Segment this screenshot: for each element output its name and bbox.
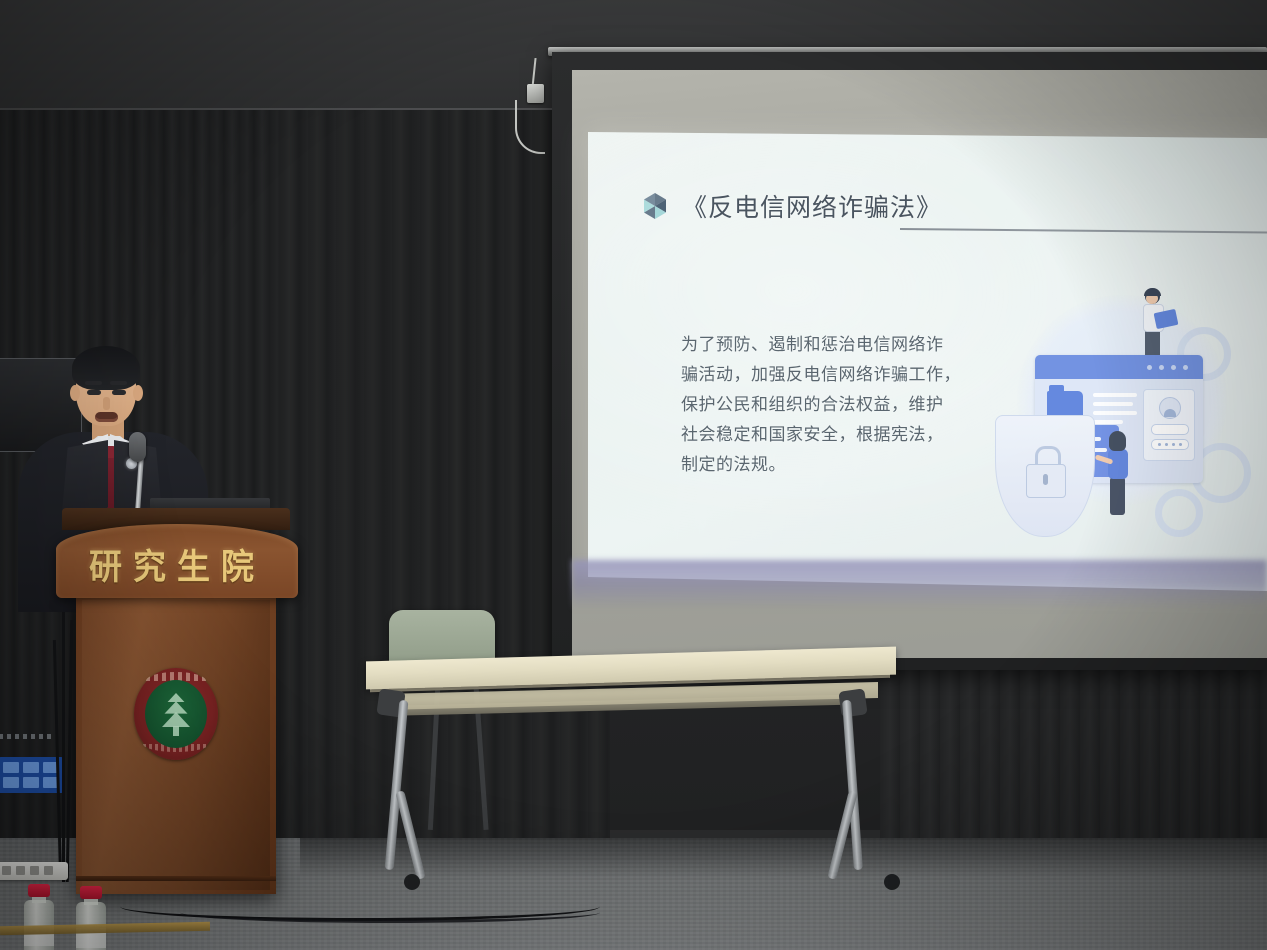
monitor-ui-cell: [23, 777, 39, 788]
browser-dot: [1147, 365, 1152, 370]
power-strip: [0, 862, 68, 880]
slide-body-line: 社会稳定和国家安全，根据宪法，: [681, 420, 963, 450]
tree-trunk: [173, 726, 179, 736]
password-dot: [1158, 443, 1161, 446]
slide-body-line: 骗活动，加强反电信网络诈骗工作，: [681, 360, 963, 390]
monitor-ui-panel: [0, 757, 63, 793]
slide-body-line: 保护公民和组织的合法权益，维护: [681, 390, 963, 420]
gear-icon: [1155, 489, 1203, 537]
cable: [62, 612, 65, 882]
speaker-nose: [103, 397, 110, 410]
monitor-ui-cell: [3, 762, 19, 773]
browser-dot: [1171, 365, 1176, 370]
text-line: [1093, 411, 1137, 415]
slide-body-text: 为了预防、遏制和惩治电信网络诈 骗活动，加强反电信网络诈骗工作， 保护公民和组织…: [681, 330, 963, 480]
monitor-text: [0, 734, 51, 739]
text-line: [1093, 420, 1123, 424]
slide-body-line: 制定的法规。: [681, 450, 963, 480]
power-socket: [16, 866, 25, 875]
browser-dot: [1183, 365, 1188, 370]
speaker-eye: [112, 390, 126, 395]
podium-nameplate-text: 研究生院: [56, 539, 298, 590]
password-field: [1151, 439, 1189, 450]
monitor-ui-cell: [3, 777, 19, 788]
floor-cable: [180, 902, 600, 923]
power-socket: [44, 866, 53, 875]
bottle-cap: [80, 886, 102, 899]
shield-icon: [995, 415, 1095, 537]
speaker-eyebrow: [85, 381, 102, 385]
password-dot: [1165, 443, 1168, 446]
university-emblem: [134, 668, 218, 760]
slide-title-row: 《反电信网络诈骗法》: [640, 188, 942, 224]
password-dot: [1172, 443, 1175, 446]
speaker-mouth: [95, 412, 118, 422]
table-caster: [404, 874, 420, 890]
lecture-hall-photo: 《反电信网络诈骗法》 为了预防、遏制和惩治电信网络诈 骗活动，加强反电信网络诈骗…: [0, 0, 1267, 950]
pine-tree-icon: [162, 690, 190, 736]
speaker-ear: [70, 385, 80, 401]
person-hair: [1144, 288, 1161, 296]
person-legs: [1110, 477, 1125, 515]
person-standing: [1103, 433, 1135, 521]
username-field: [1151, 424, 1189, 435]
bottle-cap: [28, 884, 50, 897]
gooseneck-microphone: [129, 432, 146, 462]
tree-tier: [162, 712, 190, 727]
slide-body-line: 为了预防、遏制和惩治电信网络诈: [681, 330, 963, 360]
text-line: [1093, 402, 1133, 406]
network-security-illustration: [995, 275, 1250, 565]
browser-dot: [1159, 365, 1164, 370]
person-with-laptop: [1137, 289, 1171, 363]
speaker-eye: [87, 390, 101, 395]
podium-base-seam: [76, 876, 276, 881]
avatar-icon: [1159, 397, 1181, 419]
projector-light-spill: [572, 560, 1267, 608]
monitor-ui-cell: [23, 762, 39, 773]
power-socket: [2, 866, 11, 875]
text-line: [1093, 393, 1137, 397]
password-dot: [1179, 443, 1182, 446]
speaker-eyebrow: [110, 381, 127, 385]
person-legs: [1145, 328, 1160, 358]
login-card: [1143, 389, 1195, 461]
speaker-ear: [133, 385, 143, 401]
slide-title: 《反电信网络诈骗法》: [682, 188, 942, 224]
person-hair: [1109, 431, 1126, 451]
speaker-hair: [72, 346, 140, 390]
floor-shadow: [300, 838, 1267, 878]
browser-title-bar: [1035, 355, 1203, 379]
keyhole-icon: [1043, 474, 1048, 485]
hexagon-pinwheel-icon: [640, 191, 670, 221]
power-socket: [30, 866, 39, 875]
table-caster: [884, 874, 900, 890]
